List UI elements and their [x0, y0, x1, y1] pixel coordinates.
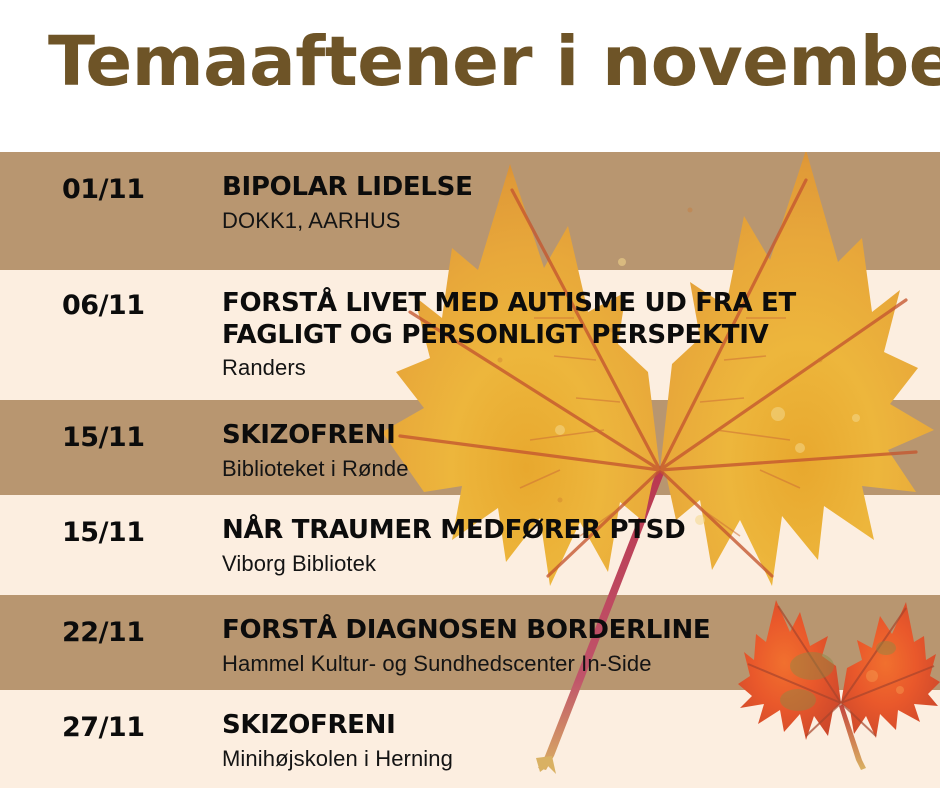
schedule-row[interactable]: 22/11FORSTÅ DIAGNOSEN BORDERLINEHammel K…: [0, 595, 940, 690]
schedule-row[interactable]: 06/11FORSTÅ LIVET MED AUTISME UD FRA ET …: [0, 270, 940, 400]
event-date: 01/11: [62, 174, 202, 205]
poster-canvas: Temaaftener i november 01/11BIPOLAR LIDE…: [0, 0, 940, 788]
event-title: FORSTÅ DIAGNOSEN BORDERLINE: [222, 615, 922, 647]
event-details: FORSTÅ DIAGNOSEN BORDERLINEHammel Kultur…: [222, 615, 922, 677]
event-venue: Viborg Bibliotek: [222, 550, 922, 578]
schedule-row[interactable]: 15/11NÅR TRAUMER MEDFØRER PTSDViborg Bib…: [0, 495, 940, 595]
event-venue: Hammel Kultur- og Sundhedscenter In-Side: [222, 650, 922, 678]
event-title: SKIZOFRENI: [222, 420, 922, 452]
event-title: BIPOLAR LIDELSE: [222, 172, 922, 204]
poster-header: Temaaftener i november: [0, 0, 940, 152]
event-details: SKIZOFRENIBiblioteket i Rønde: [222, 420, 922, 482]
event-date: 15/11: [62, 422, 202, 453]
event-date: 15/11: [62, 517, 202, 548]
event-date: 22/11: [62, 617, 202, 648]
event-details: FORSTÅ LIVET MED AUTISME UD FRA ET FAGLI…: [222, 288, 922, 382]
event-title: SKIZOFRENI: [222, 710, 922, 742]
event-title: NÅR TRAUMER MEDFØRER PTSD: [222, 515, 922, 547]
event-details: NÅR TRAUMER MEDFØRER PTSDViborg Bibliote…: [222, 515, 922, 577]
schedule-row[interactable]: 01/11BIPOLAR LIDELSEDOKK1, AARHUS: [0, 152, 940, 270]
event-details: SKIZOFRENIMinihøjskolen i Herning: [222, 710, 922, 772]
schedule-row[interactable]: 27/11SKIZOFRENIMinihøjskolen i Herning: [0, 690, 940, 788]
event-date: 27/11: [62, 712, 202, 743]
event-details: BIPOLAR LIDELSEDOKK1, AARHUS: [222, 172, 922, 234]
event-venue: Biblioteket i Rønde: [222, 455, 922, 483]
event-venue: Randers: [222, 354, 922, 382]
schedule-row[interactable]: 15/11SKIZOFRENIBiblioteket i Rønde: [0, 400, 940, 495]
event-date: 06/11: [62, 290, 202, 321]
event-venue: DOKK1, AARHUS: [222, 207, 922, 235]
event-venue: Minihøjskolen i Herning: [222, 745, 922, 773]
event-title: FORSTÅ LIVET MED AUTISME UD FRA ET FAGLI…: [222, 288, 922, 351]
page-title: Temaaftener i november: [48, 28, 940, 97]
